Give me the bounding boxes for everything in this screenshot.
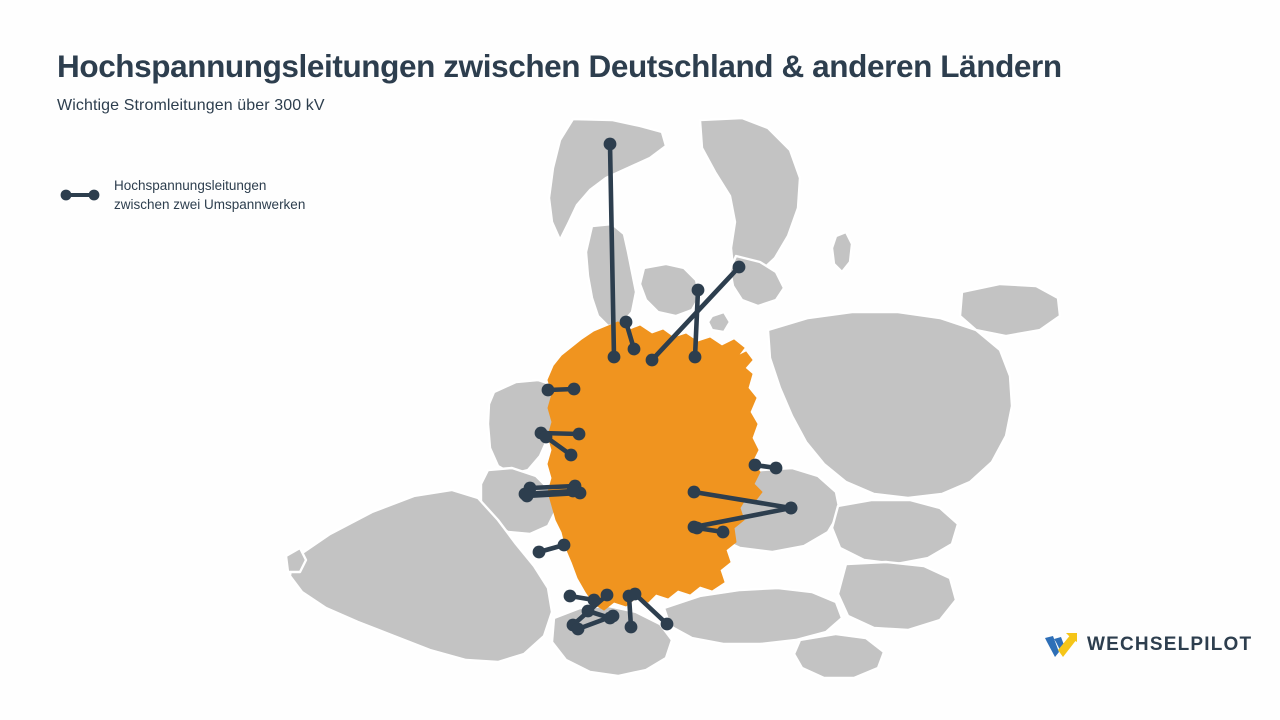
substation-node bbox=[533, 546, 546, 559]
substation-node bbox=[601, 589, 614, 602]
substation-node bbox=[770, 462, 783, 475]
substation-node bbox=[542, 384, 555, 397]
substation-node bbox=[625, 621, 638, 634]
substation-node bbox=[588, 594, 601, 607]
substation-node bbox=[733, 261, 746, 274]
substation-node bbox=[573, 428, 586, 441]
substation-node bbox=[607, 610, 620, 623]
legend: Hochspannungsleitungen zwischen zwei Ums… bbox=[58, 176, 305, 214]
substation-node bbox=[661, 618, 674, 631]
substation-node bbox=[565, 449, 578, 462]
substation-node bbox=[691, 522, 704, 535]
substation-node bbox=[582, 605, 595, 618]
connection-line bbox=[695, 290, 698, 357]
substation-node bbox=[564, 590, 577, 603]
legend-line-2: zwischen zwei Umspannwerken bbox=[114, 195, 305, 214]
substation-node bbox=[620, 316, 633, 329]
substation-node bbox=[604, 138, 617, 151]
country-hungary bbox=[838, 562, 956, 630]
substation-node bbox=[785, 502, 798, 515]
country-slovenia bbox=[794, 634, 884, 678]
legend-line-1: Hochspannungsleitungen bbox=[114, 176, 305, 195]
brand-name: WECHSELPILOT bbox=[1087, 634, 1252, 656]
infographic-root: Hochspannungsleitungen zwischen Deutschl… bbox=[0, 0, 1280, 720]
substation-node bbox=[692, 284, 705, 297]
substation-node bbox=[688, 486, 701, 499]
page-title: Hochspannungsleitungen zwischen Deutschl… bbox=[57, 48, 1217, 84]
substation-node bbox=[558, 539, 571, 552]
substation-node bbox=[567, 485, 580, 498]
substation-node bbox=[689, 351, 702, 364]
wechselpilot-checkmark-logo-icon bbox=[1044, 630, 1078, 660]
substation-node bbox=[717, 526, 730, 539]
header-block: Hochspannungsleitungen zwischen Deutschl… bbox=[57, 48, 1217, 115]
substation-node bbox=[646, 354, 659, 367]
dumbbell-connector-icon bbox=[58, 184, 102, 206]
legend-text: Hochspannungsleitungen zwischen zwei Ums… bbox=[114, 176, 305, 214]
brand-logo[interactable]: WECHSELPILOT bbox=[1044, 630, 1252, 660]
substation-node bbox=[749, 459, 762, 472]
substation-node bbox=[568, 383, 581, 396]
substation-node bbox=[629, 588, 642, 601]
substation-node bbox=[608, 351, 621, 364]
substation-node bbox=[540, 431, 553, 444]
substation-node bbox=[628, 343, 641, 356]
substation-node bbox=[519, 488, 532, 501]
substation-node bbox=[572, 623, 585, 636]
page-subtitle: Wichtige Stromleitungen über 300 kV bbox=[57, 97, 1217, 115]
